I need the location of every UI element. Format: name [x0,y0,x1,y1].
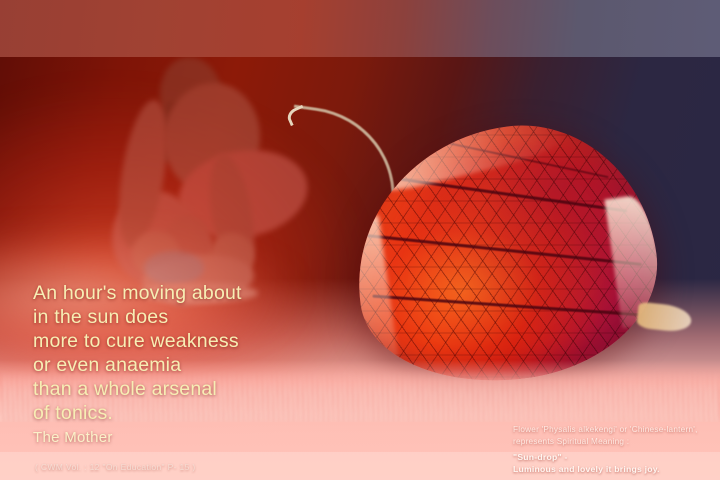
flower-note-line1: Flower 'Physalis alkekengi' or 'Chinese-… [513,424,718,436]
lantern-husk-body [339,108,671,399]
quote-author: The Mother [33,429,113,446]
flower-note: Flower 'Physalis alkekengi' or 'Chinese-… [513,424,718,447]
runner-figure [60,55,310,295]
top-haze-banner [0,0,720,57]
quote-card: An hour's moving about in the sun does m… [0,0,720,480]
flower-note-line2: represents Spiritual Meaning : [513,436,718,448]
flower-meaning-label: "Sun-drop" - [513,452,718,464]
flower-meaning: "Sun-drop" - Luminous and lovely it brin… [513,452,718,476]
quote-citation: ( CWM Vol. : 12 "On Education" P- 15 ) [35,462,196,472]
physalis-lantern [339,108,671,399]
quote-text: An hour's moving about in the sun does m… [33,281,242,425]
flower-meaning-text: Luminous and lovely it brings joy. [513,464,718,476]
